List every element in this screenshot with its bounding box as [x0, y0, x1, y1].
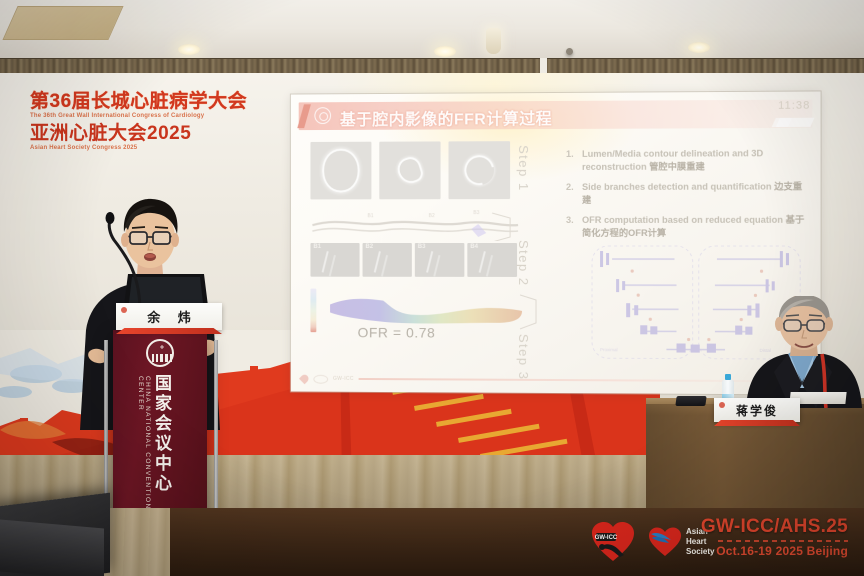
step-tag-1: Step 1 [516, 145, 531, 192]
branch-label: B1 [313, 244, 321, 250]
slide-bullet-list: 1. Lumen/Media contour delineation and 3… [566, 147, 804, 247]
conference-wall-branding: 第36届长城心脏病学大会 The 36th Great Wall Interna… [30, 92, 255, 151]
smartphone [675, 396, 706, 406]
svg-text:B2: B2 [429, 213, 435, 219]
lumen-contour-icon [322, 149, 359, 193]
ccnc-mountain-emblem-icon [146, 339, 174, 367]
step2-vessel-reconstruction: B1 B2 B3 [310, 209, 538, 241]
branch-panel: B1 [310, 243, 359, 277]
ceiling-downlight [178, 44, 200, 55]
step2-branch-panels: B1 B2 B3 B4 [310, 243, 538, 277]
gwicc-circular-emblem-icon [314, 107, 331, 124]
svg-text:B3: B3 [473, 210, 479, 216]
lectern-podium: 国家会议中心 CHINA NATIONAL CONVENTION CENTER [113, 330, 207, 520]
bullet-number: 3. [566, 214, 576, 240]
slide-bullet-item: 1. Lumen/Media contour delineation and 3… [566, 147, 804, 174]
bullet-text-en: OFR computation based on reduced equatio… [582, 215, 786, 225]
branding-line2-cn: 亚洲心脏大会2025 [30, 124, 255, 143]
slide-title: 基于腔内影像的FFR计算过程 [340, 105, 552, 130]
banner-event-info: GW-ICC/AHS.25 Oct.16-19 2025 Beijing [701, 516, 848, 558]
nameplate-logo-icon [121, 307, 127, 313]
ceiling-pendant-light [486, 28, 501, 54]
ceiling-sprinkler [566, 48, 573, 55]
speaker-name: 余 炜 [140, 307, 198, 326]
gwicc-heart-icon [299, 373, 310, 384]
oct-cross-section-image [448, 141, 510, 199]
presentation-photo-scene: 第36届长城心脏病学大会 The 36th Great Wall Interna… [0, 0, 864, 576]
lumen-contour-icon [459, 150, 500, 191]
podium-rail-right [214, 340, 218, 532]
branch-label: B3 [418, 244, 426, 250]
speaker-nameplate: 余 炜 [116, 303, 222, 330]
banner-divider [718, 540, 848, 542]
branch-panel: B3 [415, 243, 465, 277]
branch-label: B4 [470, 244, 478, 250]
nameplate-red-base [116, 328, 222, 334]
bullet-text-en: Side branches detection and quantificati… [582, 182, 774, 192]
branding-line2-en: Asian Heart Society Congress 2025 [30, 145, 255, 151]
moderator-nameplate: 蒋学俊 [714, 398, 800, 422]
gwicc-logo-text: GW-ICC [595, 535, 618, 541]
heatmap-colorbar [310, 289, 316, 333]
branch-label: B2 [365, 244, 373, 250]
ahs-heart-icon [648, 526, 682, 558]
branch-panel: B4 [467, 243, 517, 277]
bullet-number: 1. [566, 148, 576, 174]
slide-clock: 11:38 [778, 100, 810, 112]
slide-footer-text: GW-ICC [333, 376, 354, 382]
foreground-monitor-base [0, 519, 104, 576]
banner-event-code: GW-ICC/AHS.25 [701, 516, 848, 538]
podium-org-name-en: CHINA NATIONAL CONVENTION CENTER [137, 376, 151, 520]
oct-cross-section-image [310, 142, 371, 200]
ceiling [0, 0, 864, 62]
bullet-text-cn: 管腔中膜重建 [649, 162, 705, 172]
branding-line1-en: The 36th Great Wall International Congre… [30, 113, 255, 119]
bottle-cap [725, 374, 731, 380]
banner-event-dates: Oct.16-19 2025 Beijing [701, 544, 848, 558]
ahs-heart-icon [313, 374, 328, 383]
ceiling-vent-panel [2, 6, 123, 40]
slide-step-tags: Step 1 Step 2 Step 3 [516, 145, 531, 381]
branch-panel: B2 [363, 243, 412, 277]
step1-cross-sections [310, 141, 538, 199]
step3-ofr-heatmap: OFR = 0.78 [310, 289, 538, 343]
nameplate-logo-icon [719, 402, 725, 408]
lumen-contour-icon [395, 154, 425, 186]
valance-gap [540, 58, 547, 74]
podium-org-name-cn: 国家会议中心 [149, 374, 174, 494]
ofr-result-label: OFR = 0.78 [358, 324, 436, 340]
moderator-name: 蒋学俊 [736, 402, 778, 419]
svg-text:B1: B1 [367, 213, 373, 219]
bullet-number: 2. [566, 181, 576, 207]
slide-bullet-item: 2. Side branches detection and quantific… [566, 181, 804, 208]
step-tag-2: Step 2 [516, 240, 531, 287]
branding-line1-cn: 第36届长城心脏病学大会 [30, 92, 255, 111]
slide-bullet-item: 3. OFR computation based on reduced equa… [566, 214, 804, 240]
slide-step-visuals: B1 B2 B3 B1 B2 B3 B4 [310, 141, 538, 343]
ceiling-downlight [434, 46, 456, 57]
oct-cross-section-image [379, 141, 440, 199]
nameplate-red-base [714, 420, 800, 426]
svg-text:Proximal: Proximal [600, 347, 618, 352]
gwicc-logo: GW-ICC [590, 519, 636, 565]
ceiling-downlight [688, 42, 710, 53]
